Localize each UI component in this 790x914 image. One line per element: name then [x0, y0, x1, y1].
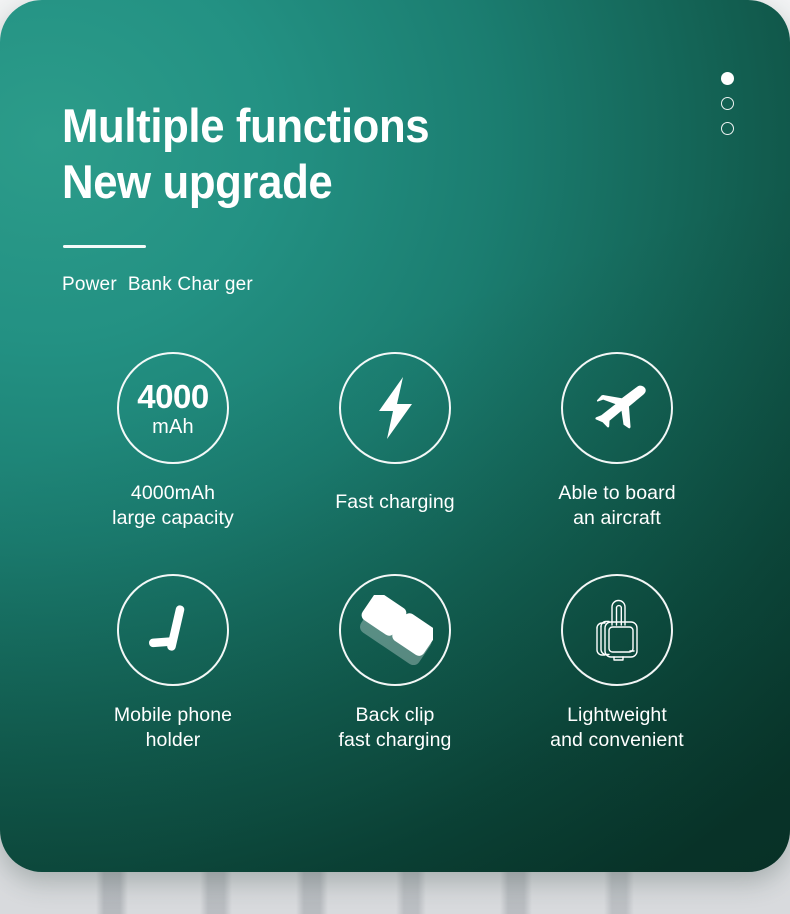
banner-page: Multiple functions New upgrade Power Ban…	[0, 0, 790, 914]
portable-device-loop-icon-ring	[561, 574, 673, 686]
phone-kickstand-icon-ring	[117, 574, 229, 686]
airplane-icon	[584, 378, 650, 438]
portable-device-loop-icon	[585, 595, 649, 665]
headline-line-2: New upgrade	[62, 154, 620, 210]
feature-caption: Lightweight and convenient	[550, 703, 684, 753]
feature-caption: Back clip fast charging	[339, 703, 452, 753]
headline-line-1: Multiple functions	[62, 98, 620, 154]
subtitle: Power Bank Char ger	[62, 272, 253, 298]
lightning-bolt-icon-ring	[339, 352, 451, 464]
phone-kickstand-icon	[142, 602, 204, 658]
headline-divider	[63, 245, 146, 248]
feature-caption: Fast charging	[335, 490, 454, 515]
lightning-bolt-icon	[366, 375, 424, 441]
feature-phone-holder: Mobile phone holder	[62, 574, 284, 796]
capacity-badge-text: 4000 mAh	[137, 380, 208, 437]
promo-card-content: Multiple functions New upgrade Power Ban…	[0, 0, 790, 872]
headline-block: Multiple functions New upgrade	[62, 98, 662, 210]
feature-back-clip: Back clip fast charging	[284, 574, 506, 796]
feature-caption: Able to board an aircraft	[558, 481, 675, 531]
pagination-dots[interactable]	[721, 72, 734, 135]
promo-card: Multiple functions New upgrade Power Ban…	[0, 0, 790, 872]
airplane-icon-ring	[561, 352, 673, 464]
pagination-dot-3[interactable]	[721, 122, 734, 135]
feature-aircraft: Able to board an aircraft	[506, 352, 728, 574]
pagination-dot-2[interactable]	[721, 97, 734, 110]
pagination-dot-1[interactable]	[721, 72, 734, 85]
back-clip-charger-icon	[357, 595, 433, 665]
feature-grid: 4000 mAh 4000mAh large capacity Fast cha…	[62, 352, 728, 796]
feature-caption: Mobile phone holder	[114, 703, 232, 753]
feature-lightweight: Lightweight and convenient	[506, 574, 728, 796]
capacity-badge-icon: 4000 mAh	[117, 352, 229, 464]
capacity-unit: mAh	[152, 417, 194, 437]
feature-fast-charging: Fast charging	[284, 352, 506, 574]
back-clip-charger-icon-ring	[339, 574, 451, 686]
feature-caption: 4000mAh large capacity	[112, 481, 234, 531]
feature-capacity: 4000 mAh 4000mAh large capacity	[62, 352, 284, 574]
capacity-value: 4000	[137, 380, 208, 413]
